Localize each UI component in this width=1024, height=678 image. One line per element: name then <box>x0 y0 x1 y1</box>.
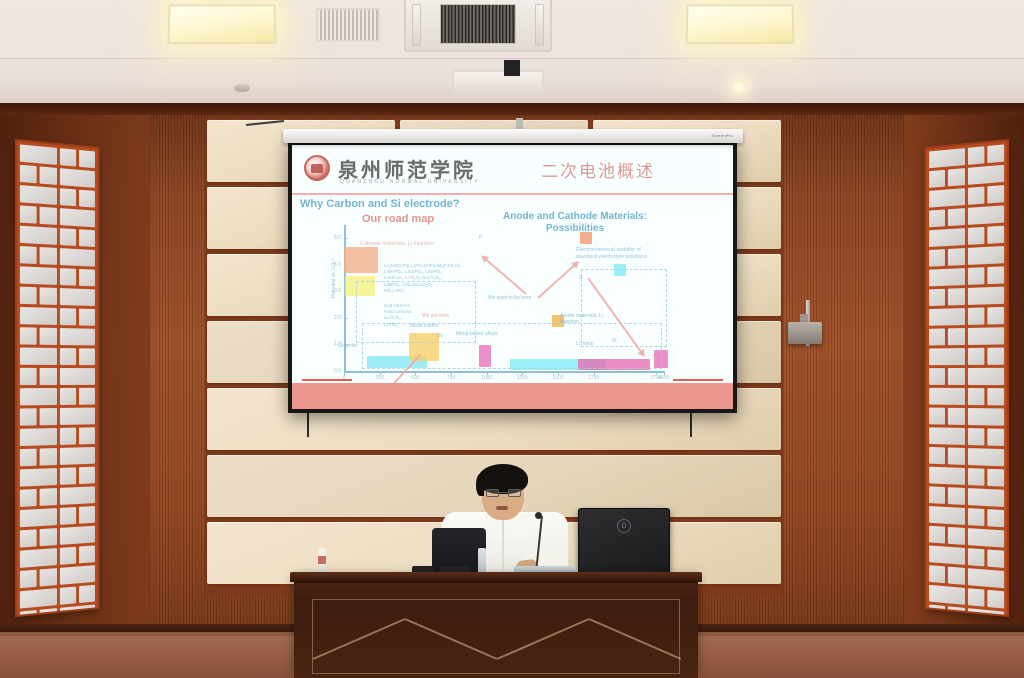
lattice-cell <box>967 588 984 607</box>
screen-housing[interactable]: ScreenPro <box>283 129 743 143</box>
chart-x-tickmark <box>558 371 559 375</box>
microphone-icon[interactable] <box>535 512 542 519</box>
lattice-cell <box>929 328 945 345</box>
lattice-cell <box>40 568 57 586</box>
lattice-cell <box>20 489 37 507</box>
lattice-cell <box>79 545 95 563</box>
screen-brand-label: ScreenPro <box>711 133 733 138</box>
lattice-cell <box>929 545 964 564</box>
chart-x-tick: 1000 <box>481 375 492 381</box>
lattice-cell <box>967 246 1004 265</box>
lattice-cell <box>967 165 1004 185</box>
lattice-cell <box>40 328 57 345</box>
lattice-cell <box>967 508 984 526</box>
lattice-cell <box>20 327 37 344</box>
podium <box>294 578 698 678</box>
label-graphite: Graphite <box>338 343 357 349</box>
lattice-cell <box>929 228 964 247</box>
lattice-cell <box>79 229 95 247</box>
lattice-cell <box>987 266 1004 284</box>
lattice-cell <box>987 428 1004 446</box>
lattice-cell <box>20 428 57 446</box>
annotation-we-want-to-be-here: We want to be here <box>488 295 531 301</box>
lattice-cell <box>40 488 57 506</box>
chart-x-tick: 1250 <box>517 375 528 381</box>
lattice-cell <box>20 266 57 285</box>
annotation-metal-alloys: Metal-based alloys <box>456 331 498 337</box>
lattice-cell <box>929 268 964 286</box>
lattice-cell <box>987 590 1004 609</box>
lattice-cell <box>929 170 945 188</box>
lattice-cell <box>59 188 75 206</box>
lattice-cell <box>929 585 964 605</box>
lattice-cell <box>929 526 945 544</box>
smoke-detector-icon <box>234 84 250 92</box>
presenter-mouth <box>496 506 508 510</box>
chart-y-tick: 4.0 <box>334 262 341 268</box>
lattice-cell <box>20 348 57 365</box>
wall-top-trim <box>0 103 1024 115</box>
lattice-cell <box>987 549 1004 567</box>
label-li-metal: Li metal <box>576 341 594 347</box>
chart-x-tick: 750 <box>447 375 455 381</box>
chart-x-tick: 250 <box>375 375 383 381</box>
lattice-cell <box>948 487 964 505</box>
bottle-label <box>318 556 326 564</box>
lattice-cell <box>929 249 945 267</box>
chart-x-tickmark <box>594 371 595 375</box>
lattice-cell <box>59 308 75 325</box>
annotation-we-are-here: We are here <box>422 313 449 319</box>
lattice-cell <box>59 328 94 345</box>
lattice-cell <box>987 348 1004 365</box>
lattice-cell <box>20 570 37 589</box>
lattice-cell <box>79 585 95 603</box>
chart-x-tickmark <box>344 371 345 375</box>
lattice-cell <box>20 449 37 467</box>
chart-arrow <box>537 261 578 298</box>
lattice-cell <box>967 227 984 245</box>
label-sn: Sn <box>437 333 443 339</box>
chart-data-box <box>344 247 378 273</box>
lattice-cell <box>40 207 57 225</box>
lattice-cell <box>967 408 1004 426</box>
lattice-panel-right <box>924 139 1009 617</box>
chart-x-tickmark <box>451 371 452 375</box>
podium-chevron <box>313 618 406 660</box>
lattice-cell <box>59 547 75 565</box>
podium-chevron <box>589 618 682 660</box>
slide-body: Why Carbon and Si electrode? Our road ma… <box>292 195 733 383</box>
lattice-cell <box>929 289 945 306</box>
chart-x-axis <box>344 371 664 373</box>
lattice-cell <box>948 208 964 226</box>
lattice-cell <box>987 469 1004 487</box>
lattice-cell <box>948 168 964 186</box>
lattice-cell <box>59 348 75 365</box>
screen-weight-left <box>307 413 309 437</box>
lattice-cell <box>967 548 984 566</box>
chart-group-box <box>581 269 667 347</box>
lattice-cell <box>79 506 95 524</box>
podium-chevron <box>497 618 590 660</box>
lattice-cell <box>967 267 984 285</box>
lattice-cell <box>59 148 75 166</box>
lattice-cell <box>929 368 945 385</box>
lattice-cell <box>967 488 1004 507</box>
podium-inset-border <box>312 599 680 674</box>
lattice-cell <box>40 287 57 305</box>
chart-x-tickmark <box>380 371 381 375</box>
lattice-cell <box>929 486 945 504</box>
glasses-lens-right <box>508 489 521 497</box>
lattice-cell <box>20 185 57 205</box>
lattice-cell <box>79 427 95 444</box>
downlight-icon <box>732 80 746 94</box>
lattice-cell <box>20 529 37 547</box>
lattice-cell <box>987 185 1004 203</box>
lattice-cell <box>967 187 984 205</box>
ac-vane-left <box>412 4 421 46</box>
lattice-cell <box>987 509 1004 527</box>
lattice-cell <box>929 506 964 525</box>
lattice-cell <box>929 427 964 445</box>
lattice-cell <box>967 205 1004 225</box>
ac-grille-icon <box>440 4 516 44</box>
lattice-cell <box>20 388 57 405</box>
lattice-cell <box>59 288 94 306</box>
glasses-bridge <box>499 492 508 493</box>
lattice-cell <box>59 467 75 485</box>
label-p: P <box>479 235 482 241</box>
lattice-cell <box>967 146 984 165</box>
chart-x-tick: 500 <box>411 375 419 381</box>
projection-screen[interactable]: 泉州师范学院 QUANZHOU NORMAL UNIVERSITY 二次电池概述… <box>288 141 737 413</box>
lattice-cell <box>967 287 1004 305</box>
slide-title-cn: 二次电池概述 <box>541 157 655 182</box>
presenter-shirt-placket <box>502 520 504 578</box>
air-vent-left-icon <box>316 8 380 42</box>
lattice-cell <box>967 327 1004 345</box>
lattice-cell <box>79 150 95 168</box>
lattice-cell <box>967 388 984 405</box>
lattice-cell <box>59 526 94 545</box>
lattice-cell <box>929 209 945 227</box>
slide-roadmap-label: Our road map <box>362 213 434 225</box>
chart-y-tick: 0.0 <box>334 368 341 374</box>
chart-y-axis-label: Potential vs. Li/Li⁺ <box>331 232 337 324</box>
lattice-cell <box>40 408 57 425</box>
lattice-cell <box>20 307 57 325</box>
lattice-cell <box>987 226 1004 244</box>
lattice-cell <box>59 428 75 445</box>
lattice-cell <box>20 226 57 245</box>
lattice-cell <box>967 348 984 365</box>
lattice-cell <box>20 287 37 305</box>
panel-light-right-icon <box>685 4 794 44</box>
chart-x-tickmark <box>664 371 665 375</box>
lattice-panel-left <box>15 139 100 617</box>
lattice-cell <box>79 348 95 365</box>
lattice-cell <box>20 246 37 264</box>
chart-x-tickmark <box>522 371 523 375</box>
lattice-cell <box>20 408 37 425</box>
lattice-cell <box>929 348 964 365</box>
chart-x-tick: 4000 <box>658 375 669 381</box>
chart-y-tick: 5.0 <box>334 235 341 241</box>
lattice-cell <box>967 368 1004 385</box>
lattice-cell <box>59 486 94 505</box>
lattice-cell <box>59 268 75 286</box>
lattice-cell <box>948 288 964 305</box>
lecture-hall-scene: ScreenPro 泉州师范学院 QUANZHOU NORMAL UNIVERS… <box>0 0 1024 678</box>
lattice-cell <box>59 168 94 188</box>
lattice-cell <box>40 448 57 466</box>
lattice-cell <box>20 144 57 164</box>
capacity-potential-chart: Potential vs. Li/Li⁺ Capacity / Ah kg⁻¹ … <box>326 225 670 385</box>
lattice-cell <box>929 565 945 583</box>
lattice-cell <box>59 248 94 267</box>
lattice-cell <box>929 388 964 405</box>
annotation-metal-oxides: Metal oxides <box>410 323 438 329</box>
lattice-cell <box>929 408 945 425</box>
chart-y-tick: 3.0 <box>334 288 341 294</box>
lattice-cell <box>20 548 57 568</box>
slide-question-title: Why Carbon and Si electrode? <box>300 198 460 210</box>
lattice-cell <box>20 508 57 527</box>
lattice-cell <box>40 166 57 184</box>
chart-y-tick: 2.0 <box>334 315 341 321</box>
label-si: Si <box>612 338 616 344</box>
ceiling-seam <box>0 58 1024 59</box>
lattice-cell <box>929 308 964 326</box>
chart-x-tick: 1750 <box>588 375 599 381</box>
lattice-cell <box>59 447 94 465</box>
chart-arrow <box>481 255 526 295</box>
lattice-cell <box>987 144 1004 163</box>
lattice-cell <box>948 248 964 266</box>
lattice-cell <box>59 586 75 604</box>
lattice-cell <box>20 368 37 385</box>
lattice-cell <box>948 408 964 425</box>
lattice-cell <box>79 467 95 484</box>
chart-y-tickmark <box>344 318 348 319</box>
chart-x-tick: 1500 <box>552 375 563 381</box>
slide-header: 泉州师范学院 QUANZHOU NORMAL UNIVERSITY 二次电池概述 <box>292 145 733 195</box>
lattice-cell <box>929 447 945 464</box>
lattice-cell <box>948 368 964 385</box>
lattice-cell <box>59 408 94 425</box>
lattice-cell <box>59 507 75 525</box>
university-name-en: QUANZHOU NORMAL UNIVERSITY <box>340 179 480 185</box>
lattice-cell <box>59 228 75 246</box>
podium-countertop <box>290 572 702 582</box>
lattice-cell <box>40 528 57 546</box>
lattice-cell <box>948 567 964 585</box>
chart-x-tickmark <box>487 371 488 375</box>
wall-speaker-icon <box>788 322 822 344</box>
glasses-lens-left <box>486 489 499 497</box>
lattice-cell <box>20 205 37 223</box>
footer-accent-right <box>673 379 723 381</box>
lattice-grid-right <box>929 144 1004 611</box>
lattice-cell <box>948 527 964 545</box>
lattice-cell <box>79 388 95 405</box>
lattice-cell <box>79 309 95 326</box>
dell-logo-icon: D <box>617 519 631 533</box>
lattice-cell <box>967 428 984 445</box>
lattice-cell <box>948 447 964 464</box>
lattice-cell <box>20 468 57 487</box>
air-conditioner-unit <box>404 0 552 52</box>
lattice-grid-left <box>20 144 95 611</box>
lattice-cell <box>79 190 95 208</box>
lattice-cell <box>967 448 1004 466</box>
air-diffuser-icon <box>452 70 544 96</box>
monitor-neck <box>504 60 520 76</box>
ac-vane-right <box>535 4 544 46</box>
lattice-cell <box>40 368 57 385</box>
lattice-cell <box>929 148 964 168</box>
chart-x-tickmark <box>415 371 416 375</box>
label-s: S <box>579 275 582 281</box>
panel-light-left-icon <box>167 4 276 44</box>
chart-y-tickmark <box>344 238 348 239</box>
lattice-cell <box>59 565 94 585</box>
lattice-cell <box>987 388 1004 405</box>
lattice-cell <box>967 528 1004 548</box>
lattice-cell <box>20 165 37 184</box>
lattice-cell <box>987 307 1004 325</box>
footer-accent-left <box>302 379 352 381</box>
lattice-cell <box>79 269 95 286</box>
slide-footer-band <box>292 383 733 409</box>
lattice-cell <box>967 568 1004 588</box>
lattice-cell <box>20 588 57 608</box>
annotation-anode-materials: Anode materials: Li insertion <box>560 313 622 325</box>
lattice-cell <box>59 208 94 227</box>
lattice-cell <box>967 307 984 324</box>
monitor-body: D <box>578 508 670 574</box>
podium-chevron <box>405 618 498 660</box>
screen-weight-right <box>690 413 692 437</box>
chart-data-box <box>580 232 592 244</box>
presentation-slide: 泉州师范学院 QUANZHOU NORMAL UNIVERSITY 二次电池概述… <box>292 145 733 409</box>
lattice-cell <box>929 188 964 208</box>
lattice-cell <box>40 247 57 265</box>
lattice-cell <box>967 468 984 486</box>
monitor[interactable]: D <box>578 508 670 574</box>
glasses-icon <box>486 489 521 497</box>
lattice-cell <box>59 368 94 385</box>
chart-x-tickmark <box>656 371 657 375</box>
university-logo-inner <box>311 164 323 173</box>
lattice-cell <box>929 467 964 485</box>
lattice-cell <box>59 388 75 405</box>
lattice-cell <box>948 328 964 345</box>
